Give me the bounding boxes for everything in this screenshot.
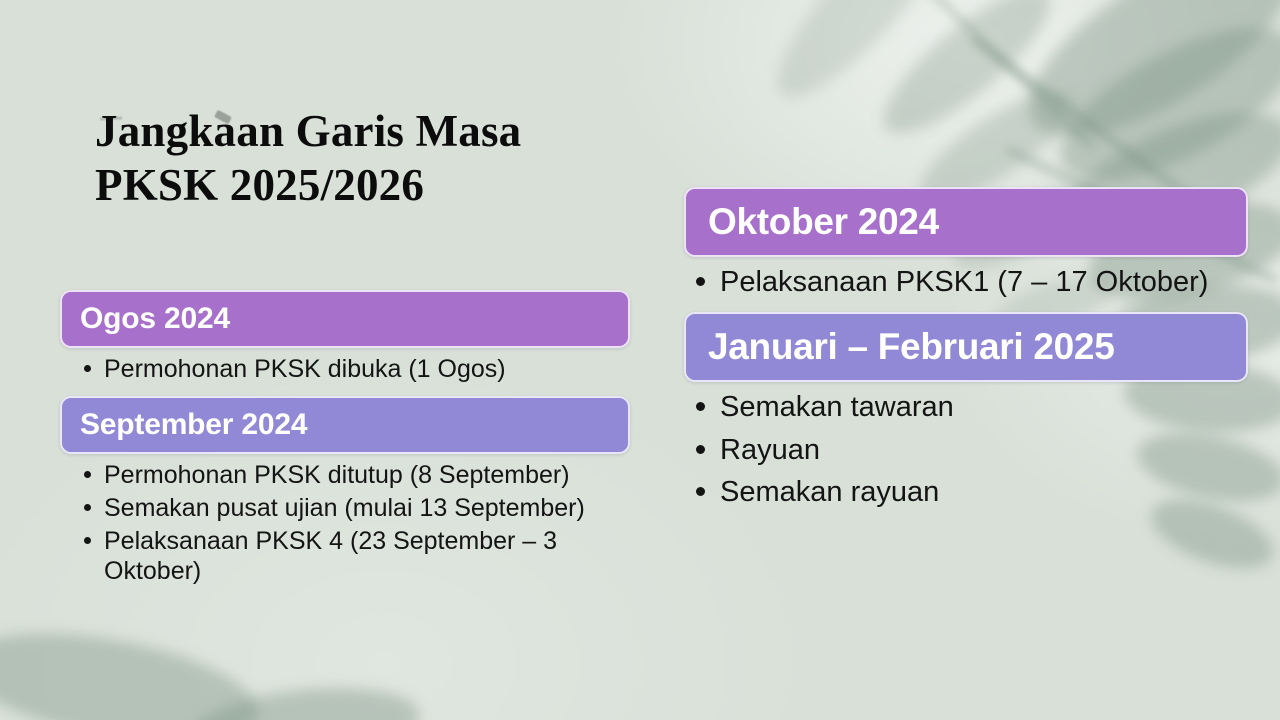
timeline-item-list: Semakan tawaran Rayuan Semakan rayuan bbox=[684, 382, 1248, 510]
timeline-item-list: Permohonan PKSK ditutup (8 September) Se… bbox=[60, 454, 630, 586]
page-title: Jangkaan Garis Masa PKSK 2025/2026 bbox=[95, 104, 695, 212]
timeline-column-left: Ogos 2024 Permohonan PKSK dibuka (1 Ogos… bbox=[60, 290, 630, 589]
list-item: Permohonan PKSK dibuka (1 Ogos) bbox=[78, 354, 630, 384]
month-header-label: Januari – Februari 2025 bbox=[708, 326, 1114, 368]
timeline-block: September 2024 Permohonan PKSK ditutup (… bbox=[60, 396, 630, 586]
list-item: Rayuan bbox=[694, 433, 1248, 468]
month-header-label: September 2024 bbox=[80, 408, 307, 442]
month-header-ogos[interactable]: Ogos 2024 bbox=[60, 290, 630, 348]
list-item: Semakan rayuan bbox=[694, 475, 1248, 510]
list-item: Permohonan PKSK ditutup (8 September) bbox=[78, 460, 630, 490]
list-item: Semakan pusat ujian (mulai 13 September) bbox=[78, 493, 630, 523]
list-item: Pelaksanaan PKSK 4 (23 September – 3 Okt… bbox=[78, 526, 630, 586]
list-item: Semakan tawaran bbox=[694, 390, 1248, 425]
timeline-block: Januari – Februari 2025 Semakan tawaran … bbox=[684, 312, 1248, 510]
slide-canvas: Jangkaan Garis Masa PKSK 2025/2026 Ogos … bbox=[0, 0, 1280, 720]
timeline-item-list: Pelaksanaan PKSK1 (7 – 17 Oktober) bbox=[684, 257, 1248, 300]
month-header-oktober[interactable]: Oktober 2024 bbox=[684, 187, 1248, 257]
month-header-label: Ogos 2024 bbox=[80, 302, 230, 336]
timeline-block: Ogos 2024 Permohonan PKSK dibuka (1 Ogos… bbox=[60, 290, 630, 384]
timeline-block: Oktober 2024 Pelaksanaan PKSK1 (7 – 17 O… bbox=[684, 187, 1248, 300]
month-header-januari-februari[interactable]: Januari – Februari 2025 bbox=[684, 312, 1248, 382]
timeline-item-list: Permohonan PKSK dibuka (1 Ogos) bbox=[60, 348, 630, 384]
list-item: Pelaksanaan PKSK1 (7 – 17 Oktober) bbox=[694, 265, 1248, 300]
timeline-column-right: Oktober 2024 Pelaksanaan PKSK1 (7 – 17 O… bbox=[684, 187, 1248, 518]
month-header-label: Oktober 2024 bbox=[708, 201, 939, 243]
month-header-september[interactable]: September 2024 bbox=[60, 396, 630, 454]
